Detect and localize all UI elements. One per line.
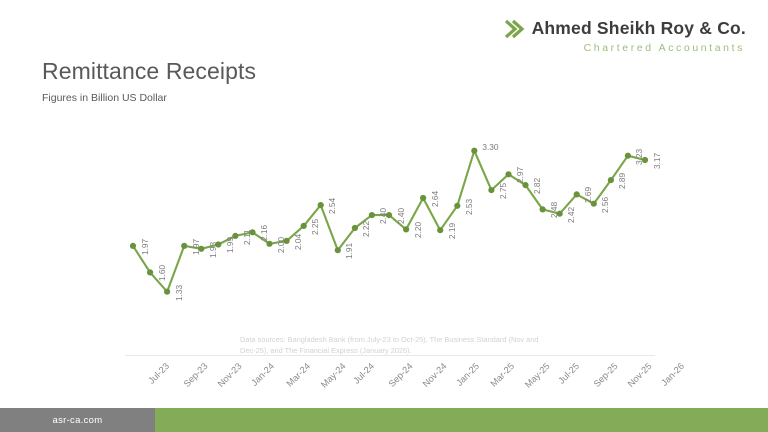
footer-bar: asr-ca.com bbox=[0, 408, 768, 432]
data-point[interactable] bbox=[301, 223, 307, 229]
data-point-label: 2.64 bbox=[430, 191, 440, 207]
data-point-label: 2.97 bbox=[515, 167, 525, 183]
data-point[interactable] bbox=[625, 153, 631, 159]
data-point[interactable] bbox=[403, 226, 409, 232]
data-point-label: 2.16 bbox=[259, 225, 269, 241]
data-point-label: 2.40 bbox=[378, 208, 388, 224]
data-point[interactable] bbox=[181, 243, 187, 249]
data-point[interactable] bbox=[318, 202, 324, 208]
data-point-label: 2.53 bbox=[464, 199, 474, 215]
remittance-line-chart: 1.971.601.331.971.931.992.112.162.002.04… bbox=[0, 0, 768, 432]
data-point-label: 2.20 bbox=[413, 222, 423, 238]
data-point-label: 3.17 bbox=[652, 153, 662, 169]
data-point-label: 2.69 bbox=[583, 187, 593, 203]
data-point[interactable] bbox=[454, 203, 460, 209]
data-point[interactable] bbox=[164, 289, 170, 295]
data-point-label: 2.56 bbox=[600, 197, 610, 213]
data-point-label: 2.11 bbox=[242, 229, 252, 245]
data-point[interactable] bbox=[540, 206, 546, 212]
data-point-label: 2.42 bbox=[566, 207, 576, 223]
data-point-label: 2.25 bbox=[310, 219, 320, 235]
data-point-label: 3.23 bbox=[634, 149, 644, 165]
source-note: Data sources: Bangladesh Bank (from July… bbox=[240, 335, 540, 356]
data-point-label: 1.33 bbox=[174, 285, 184, 301]
data-point-label: 1.97 bbox=[140, 239, 150, 255]
data-point[interactable] bbox=[608, 177, 614, 183]
data-point-label: 2.00 bbox=[276, 237, 286, 253]
data-point[interactable] bbox=[420, 195, 426, 201]
data-point[interactable] bbox=[488, 187, 494, 193]
data-point-label: 1.60 bbox=[157, 265, 167, 281]
data-point-label: 3.30 bbox=[482, 142, 498, 152]
data-point[interactable] bbox=[352, 225, 358, 231]
data-point-label: 2.48 bbox=[549, 202, 559, 218]
data-point[interactable] bbox=[437, 227, 443, 233]
data-point[interactable] bbox=[266, 241, 272, 247]
data-point[interactable] bbox=[471, 148, 477, 154]
data-point-label: 2.40 bbox=[396, 208, 406, 224]
data-point-label: 2.19 bbox=[447, 223, 457, 239]
data-point-label: 2.22 bbox=[361, 221, 371, 237]
data-point-label: 2.89 bbox=[617, 173, 627, 189]
data-point[interactable] bbox=[147, 269, 153, 275]
data-point[interactable] bbox=[369, 212, 375, 218]
data-point[interactable] bbox=[505, 171, 511, 177]
data-point-label: 2.04 bbox=[293, 234, 303, 250]
data-point[interactable] bbox=[130, 243, 136, 249]
data-point-label: 1.91 bbox=[344, 243, 354, 259]
footer-website: asr-ca.com bbox=[0, 408, 155, 432]
data-point-label: 1.97 bbox=[191, 239, 201, 255]
data-point-label: 1.93 bbox=[208, 242, 218, 258]
data-point-label: 2.54 bbox=[327, 198, 337, 214]
data-point-label: 2.82 bbox=[532, 178, 542, 194]
data-point[interactable] bbox=[574, 191, 580, 197]
footer-accent bbox=[155, 408, 768, 432]
data-point-label: 1.99 bbox=[225, 237, 235, 253]
data-point-label: 2.75 bbox=[498, 183, 508, 199]
data-point[interactable] bbox=[335, 247, 341, 253]
